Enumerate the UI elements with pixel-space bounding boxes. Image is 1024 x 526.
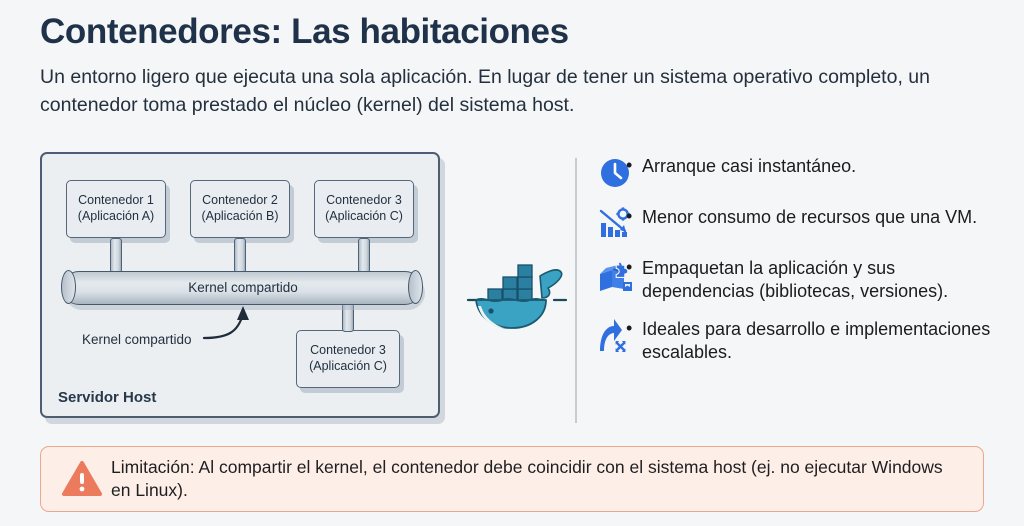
- benefit-item-resources: Menor consumo de recursos que una VM.: [592, 203, 1012, 243]
- limitation-warning-banner: Limitación: Al compartir el kernel, el c…: [40, 446, 984, 512]
- shared-kernel-pipe: Kernel compartido: [62, 271, 422, 305]
- header: Contenedores: Las habitaciones Un entorn…: [40, 12, 1000, 120]
- container-2-title: Contenedor 2: [191, 192, 289, 208]
- section-divider: [575, 158, 577, 423]
- container-1-app: (Aplicación A): [67, 208, 165, 224]
- container-box-3: Contenedor 3 (Aplicación C): [314, 180, 414, 238]
- connector-pipe-4: [342, 302, 354, 332]
- benefit-label-resources: Menor consumo de recursos que una VM.: [638, 203, 1012, 229]
- container-2-app: (Aplicación B): [191, 208, 289, 224]
- kernel-annotation-label: Kernel compartido: [82, 332, 192, 347]
- container-box-4: Contenedor 3 (Aplicación C): [296, 330, 400, 388]
- benefit-label-startup: Arranque casi instantáneo.: [638, 152, 1012, 178]
- container-3-title: Contenedor 3: [315, 192, 413, 208]
- benefit-label-packaging: Empaquetan la aplicación y sus dependenc…: [638, 254, 1012, 304]
- page-title: Contenedores: Las habitaciones: [40, 12, 1000, 52]
- container-box-2: Contenedor 2 (Aplicación B): [190, 180, 290, 238]
- page-subtitle: Un entorno ligero que ejecuta una sola a…: [40, 64, 970, 119]
- container-1-title: Contenedor 1: [67, 192, 165, 208]
- container-box-1: Contenedor 1 (Aplicación A): [66, 180, 166, 238]
- warning-triangle-icon: [59, 461, 105, 497]
- main-content-row: Contenedor 1 (Aplicación A) Contenedor 2…: [0, 150, 1024, 430]
- docker-whale-logo-icon: [462, 256, 572, 334]
- connector-pipe-3: [358, 238, 370, 273]
- connector-pipe-1: [110, 238, 122, 273]
- benefit-item-startup: Arranque casi instantáneo.: [592, 152, 1012, 192]
- annotation-arrow-icon: [202, 304, 282, 350]
- host-server-label: Servidor Host: [58, 389, 156, 406]
- kernel-label: Kernel compartido: [63, 272, 423, 306]
- limitation-warning-text: Limitación: Al compartir el kernel, el c…: [105, 456, 965, 503]
- container-4-app: (Aplicación C): [297, 358, 399, 374]
- benefit-item-scalability: Ideales para desarrollo e implementacion…: [592, 315, 1012, 365]
- container-3-app: (Aplicación C): [315, 208, 413, 224]
- container-4-title: Contenedor 3: [297, 342, 399, 358]
- benefit-label-scalability: Ideales para desarrollo e implementacion…: [638, 315, 1012, 365]
- host-server-box: Contenedor 1 (Aplicación A) Contenedor 2…: [40, 152, 440, 418]
- benefits-list: Arranque casi instantáneo.: [592, 152, 1012, 376]
- benefit-item-packaging: Empaquetan la aplicación y sus dependenc…: [592, 254, 1012, 304]
- connector-pipe-2: [234, 238, 246, 273]
